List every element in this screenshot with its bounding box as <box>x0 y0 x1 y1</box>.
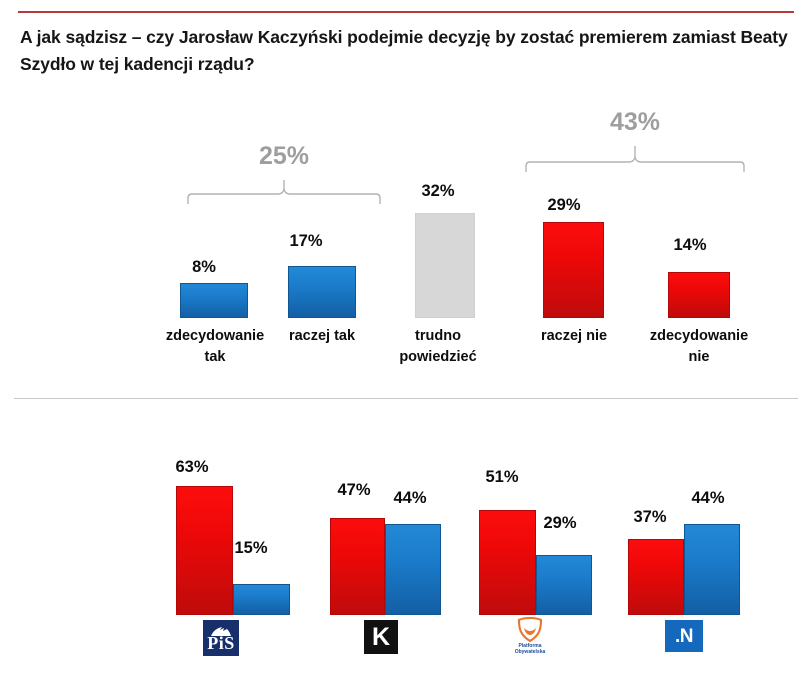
bar-category-top-2: trudno powiedzieć <box>388 326 488 368</box>
bracket-group-yes: 25% <box>186 142 382 206</box>
bracket-group-no: 43% <box>524 108 746 172</box>
bar-value-top-3: 29% <box>522 196 606 215</box>
bar-value-top-0: 8% <box>168 258 240 277</box>
po-logo: Platforma Obywatelska <box>505 616 555 658</box>
bar-top-2 <box>415 213 475 318</box>
bar-bottom-g1-s1 <box>385 524 441 615</box>
bar-bottom-g3-s0 <box>628 539 684 615</box>
bar-value-bottom-g0-s0: 63% <box>150 458 234 477</box>
bar-bottom-g1-s0 <box>330 518 385 615</box>
bar-value-bottom-g2-s1: 29% <box>518 514 602 533</box>
po-logo-text: Platforma Obywatelska <box>515 644 546 655</box>
bar-category-top-1: raczej tak <box>272 326 372 347</box>
bar-bottom-g2-s1 <box>536 555 592 615</box>
nowoczesna-logo-text: .N <box>675 627 693 646</box>
nowoczesna-logo: .N <box>665 620 703 652</box>
bracket-label-no: 43% <box>524 108 746 137</box>
pis-logo-text: PiS <box>207 634 235 655</box>
bar-top-0 <box>180 283 248 318</box>
pis-logo: PiS <box>203 620 239 656</box>
bar-value-bottom-g2-s0: 51% <box>460 468 544 487</box>
bar-value-bottom-g0-s1: 15% <box>209 539 293 558</box>
bar-value-top-4: 14% <box>648 236 732 255</box>
chart-by-electorate: 63% 15% PiS 47% 44% K 51% 29% Platforma … <box>0 398 812 700</box>
bracket-shape-no <box>524 142 746 174</box>
bar-top-1 <box>288 266 356 318</box>
bar-top-3 <box>543 222 604 318</box>
bar-bottom-g3-s1 <box>684 524 740 615</box>
chart-overall-responses: 25% 43% 8% zdecydowanie tak 17% raczej t… <box>0 0 812 398</box>
bar-bottom-g0-s1 <box>233 584 290 615</box>
shield-smile-icon <box>516 616 544 643</box>
bar-value-top-1: 17% <box>264 232 348 251</box>
kukiz-logo: K <box>364 620 398 654</box>
crown-icon <box>210 625 232 637</box>
bracket-label-yes: 25% <box>186 142 382 171</box>
bar-value-bottom-g3-s0: 37% <box>608 508 692 527</box>
bracket-shape-yes <box>186 176 382 206</box>
bar-category-top-0: zdecydowanie tak <box>160 326 270 368</box>
kukiz-logo-text: K <box>366 622 396 652</box>
bar-value-bottom-g3-s1: 44% <box>666 489 750 508</box>
bar-top-4 <box>668 272 730 318</box>
bar-value-bottom-g1-s1: 44% <box>368 489 452 508</box>
bar-category-top-4: zdecydowanie nie <box>644 326 754 368</box>
bar-value-top-2: 32% <box>396 182 480 201</box>
bar-category-top-3: raczej nie <box>524 326 624 347</box>
